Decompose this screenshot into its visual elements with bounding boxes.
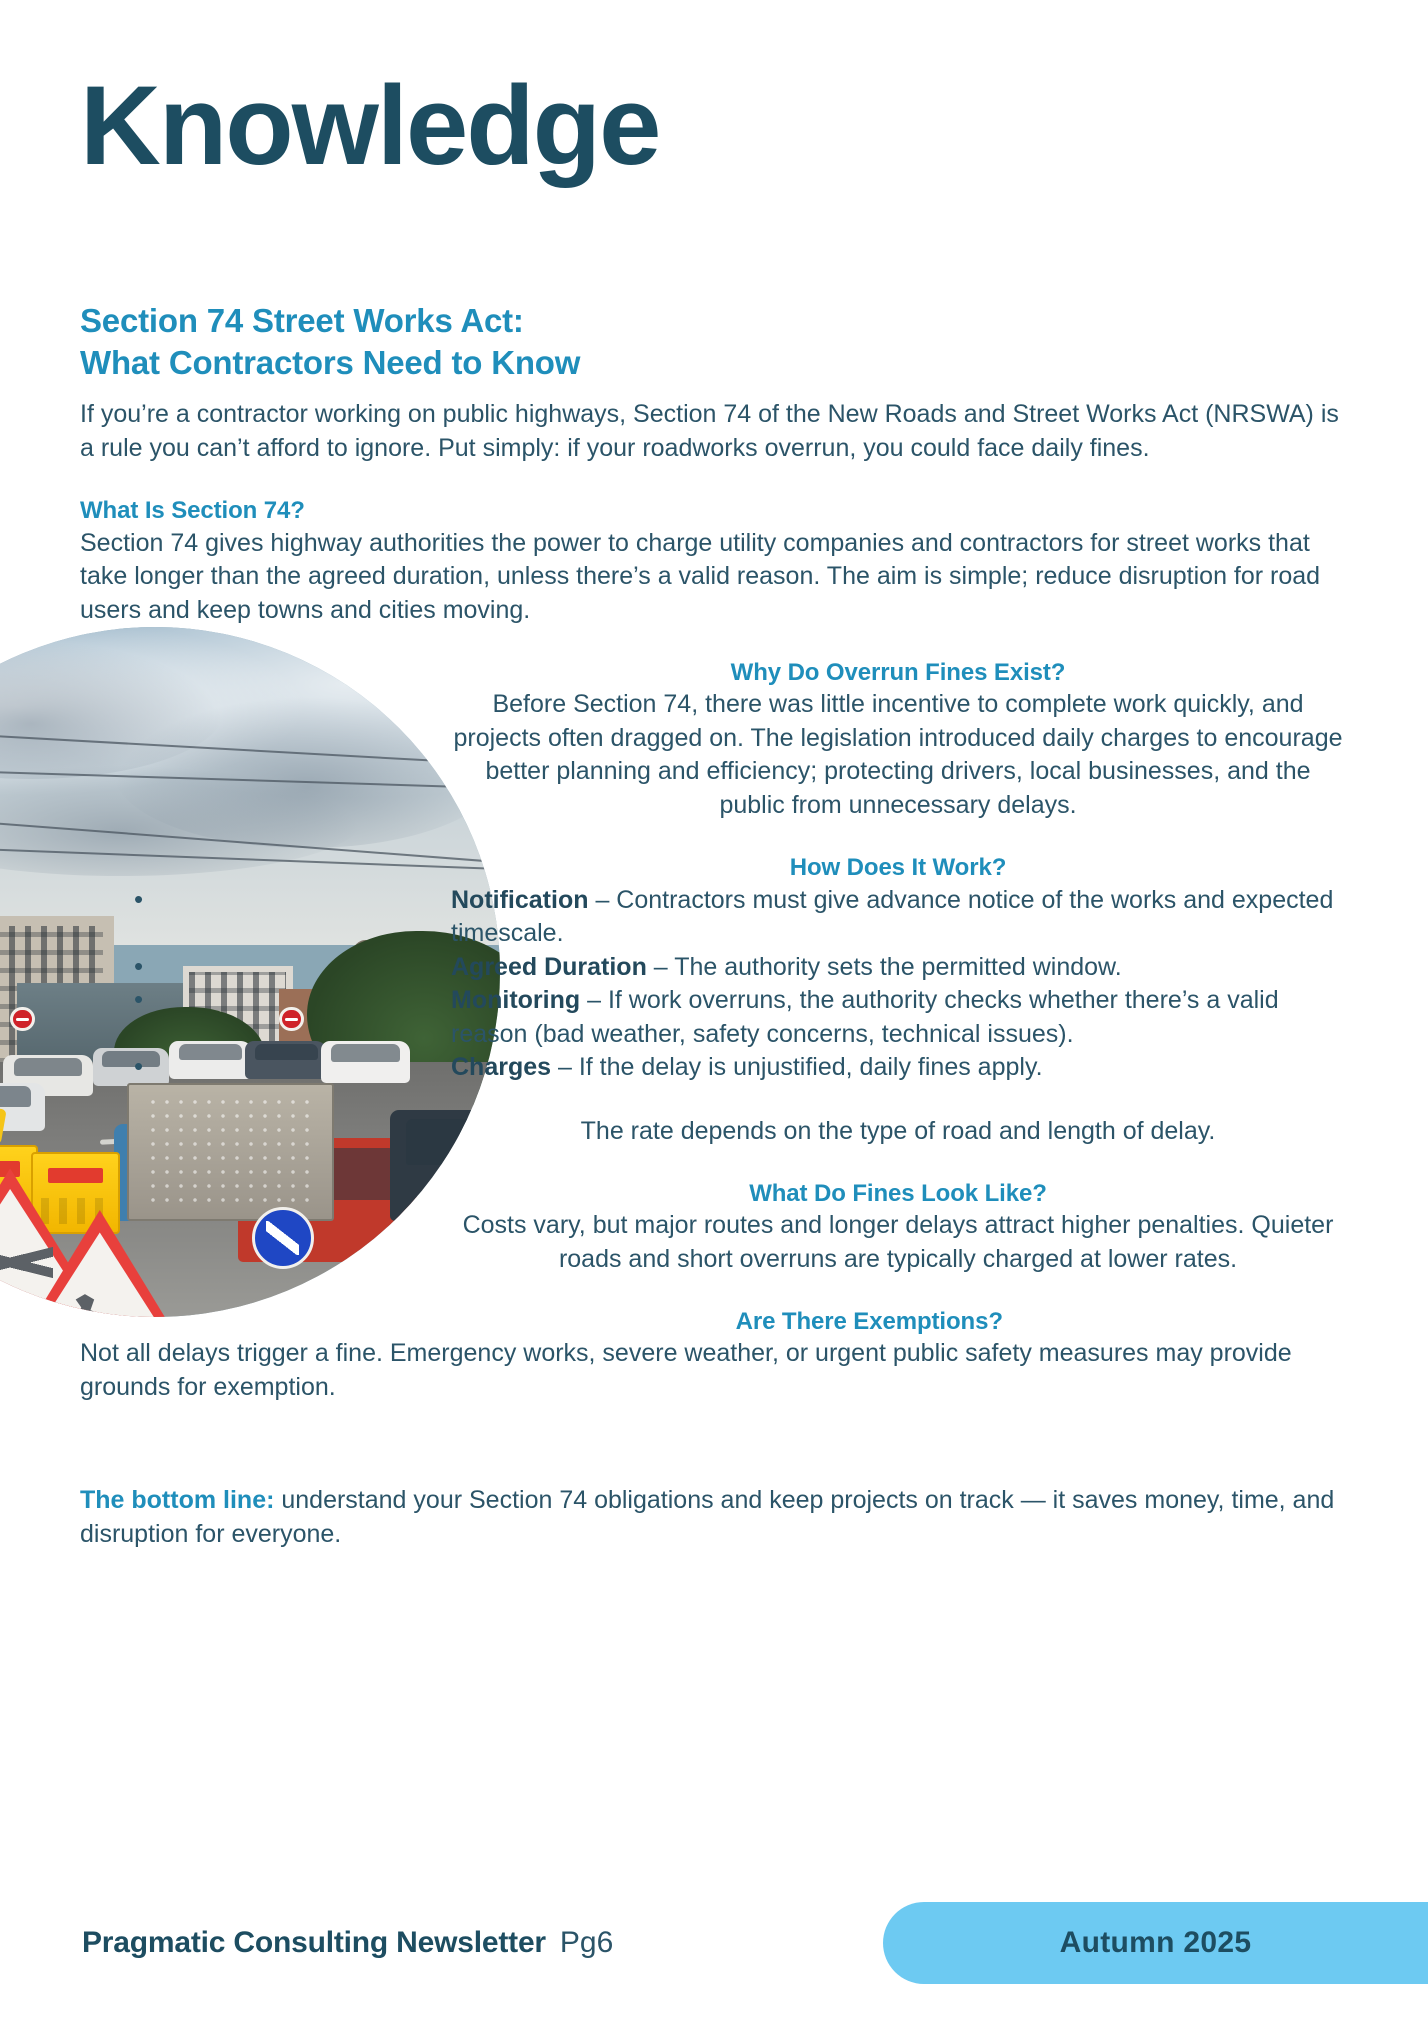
bullet-text: The authority sets the permitted window. — [674, 953, 1121, 981]
photo-no-entry-sign — [10, 1007, 35, 1032]
footer-season-pill: Autumn 2025 — [883, 1902, 1428, 1984]
bullet-text: If the delay is unjustified, daily fines… — [579, 1053, 1043, 1081]
bottom-line-label: The bottom line: — [80, 1486, 274, 1514]
page-footer: Pragmatic Consulting Newsletter Pg6 Autu… — [0, 1902, 1428, 1984]
list-item: Notification – Contractors must give adv… — [126, 884, 1345, 951]
bullet-dash: – — [589, 886, 617, 914]
bullet-dash: – — [580, 986, 608, 1014]
photo-keep-left-sign — [252, 1207, 314, 1269]
article-title-line-1: Section 74 Street Works Act: — [80, 302, 524, 339]
list-item: Charges – If the delay is unjustified, d… — [126, 1051, 1345, 1085]
article-body: Section 74 Street Works Act: What Contra… — [80, 300, 1345, 1551]
photo-car-dark — [390, 1110, 500, 1220]
photo-men-at-work-sign — [3, 1207, 196, 1317]
article-title-line-2: What Contractors Need to Know — [80, 344, 580, 381]
bullet-term: Notification — [451, 886, 589, 914]
footer-newsletter-title: Pragmatic Consulting Newsletter — [82, 1926, 546, 1960]
newsletter-page: Knowledge Section 74 Street Works Act: W… — [0, 0, 1428, 2018]
article-intro-paragraph: If you’re a contractor working on public… — [80, 398, 1345, 465]
footer-season-label: Autumn 2025 — [1060, 1926, 1252, 1960]
bottom-line-paragraph: The bottom line: understand your Section… — [80, 1484, 1345, 1551]
photo-car — [0, 1083, 45, 1131]
list-item: Agreed Duration – The authority sets the… — [126, 951, 1345, 985]
bullet-dash: – — [551, 1053, 579, 1081]
section-body-what-is-section-74: Section 74 gives highway authorities the… — [80, 527, 1345, 628]
bullet-dash: – — [647, 953, 674, 981]
footer-left-group: Pragmatic Consulting Newsletter Pg6 — [82, 1902, 613, 1984]
list-item: Monitoring – If work overruns, the autho… — [126, 984, 1345, 1051]
bullet-term: Monitoring — [451, 986, 580, 1014]
how-it-works-bullet-list: Notification – Contractors must give adv… — [80, 884, 1345, 1085]
footer-page-number: Pg6 — [560, 1926, 613, 1960]
article-title: Section 74 Street Works Act: What Contra… — [80, 300, 1345, 384]
photo-skip-container — [127, 1083, 334, 1221]
bullet-term: Agreed Duration — [451, 953, 647, 981]
bullet-term: Charges — [451, 1053, 551, 1081]
page-masthead-title: Knowledge — [80, 70, 1380, 182]
section-heading-what-is-section-74: What Is Section 74? — [80, 495, 1345, 526]
section-body-are-there-exemptions: Not all delays trigger a fine. Emergency… — [80, 1337, 1345, 1404]
